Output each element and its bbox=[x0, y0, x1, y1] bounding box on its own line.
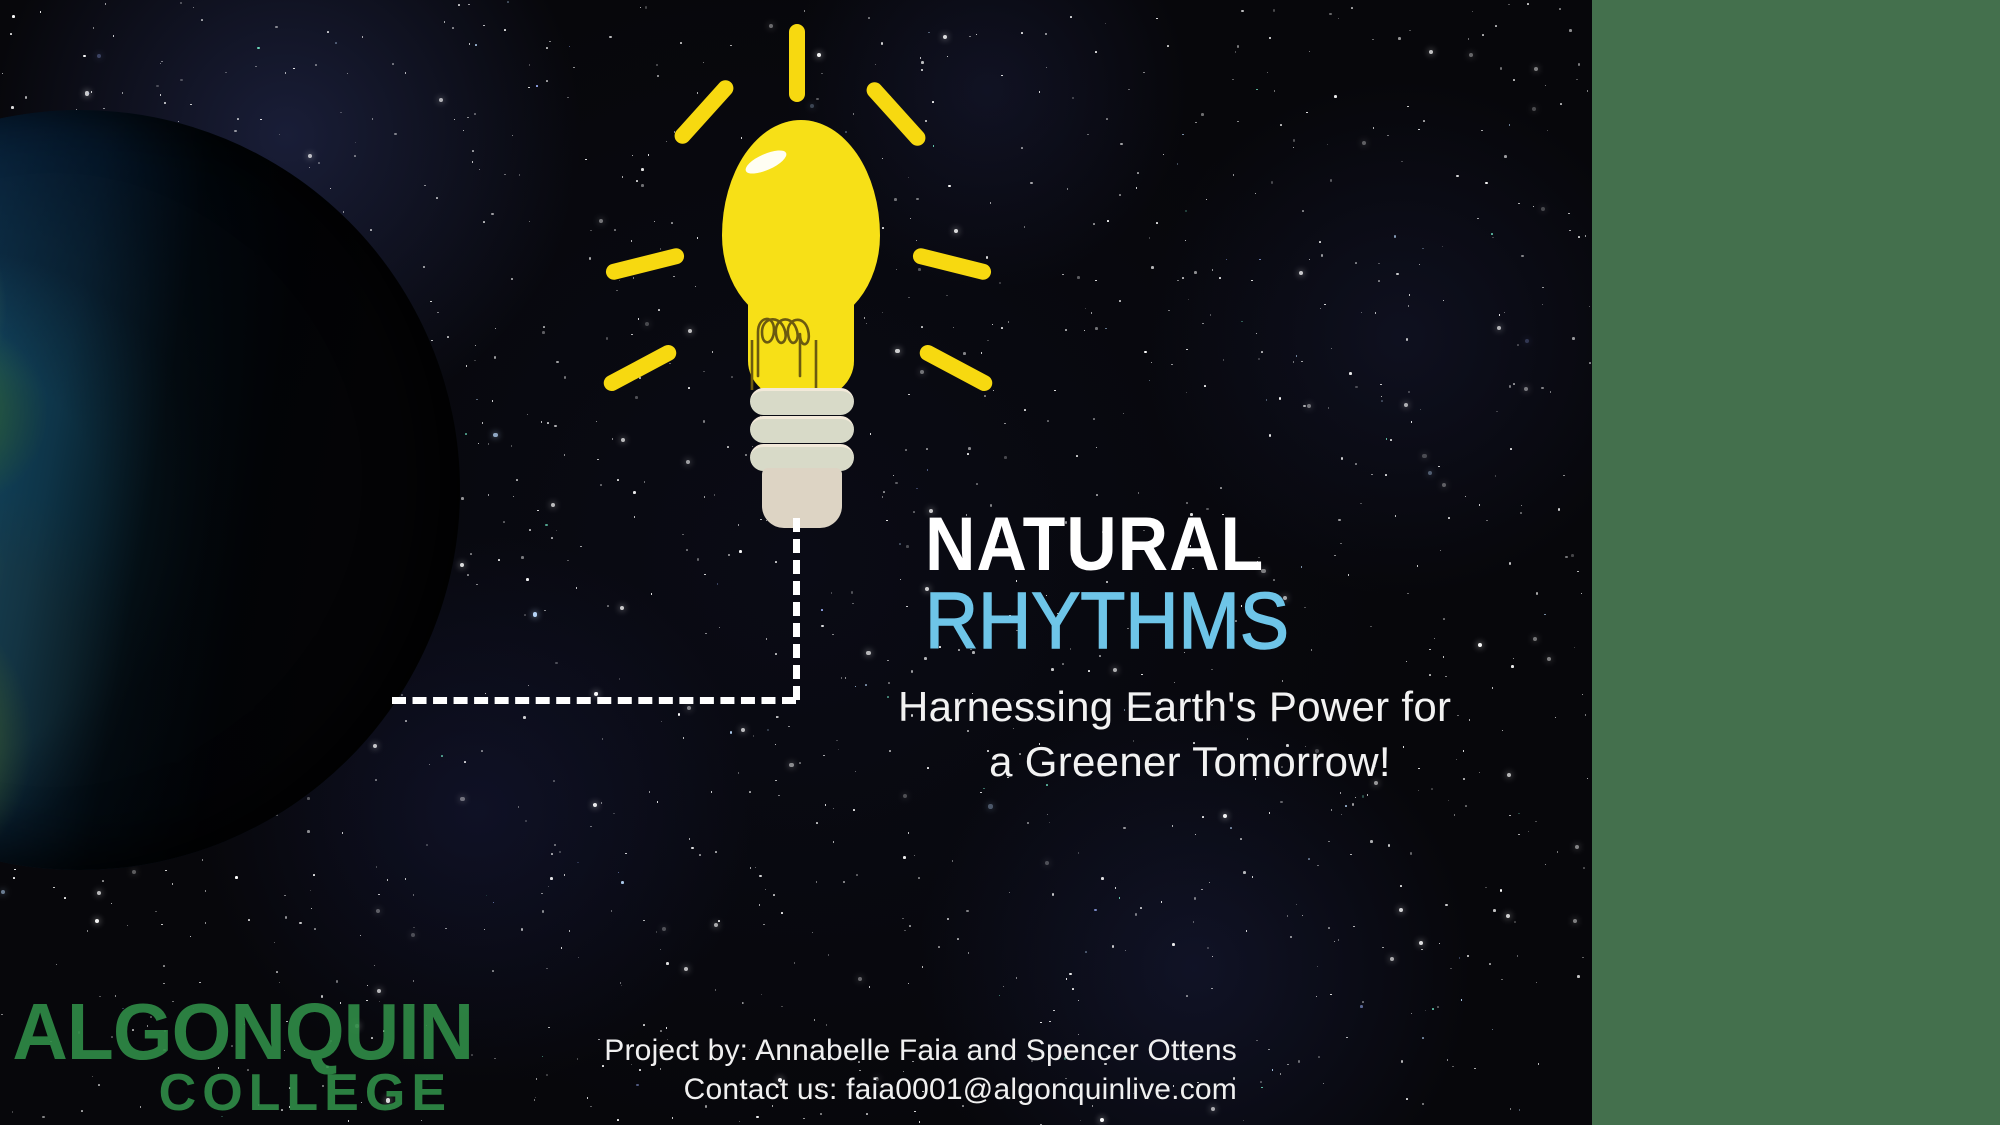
screenshot-canvas: NATURAL RHYTHMS Harnessing Earth's Power… bbox=[0, 0, 2000, 1125]
dashed-connector-line-vertical bbox=[793, 518, 800, 700]
bulb-ray-top bbox=[789, 24, 805, 102]
bulb-filament-icon bbox=[730, 280, 880, 390]
tagline-line-2: a Greener Tomorrow! bbox=[880, 735, 1500, 790]
credit-contact: Contact us: faia0001@algonquinlive.com bbox=[604, 1071, 1237, 1109]
slide-tagline: Harnessing Earth's Power for a Greener T… bbox=[880, 680, 1500, 789]
credit-project-by: Project by: Annabelle Faia and Spencer O… bbox=[604, 1032, 1237, 1070]
logo-wordmark: ALGONQUIN bbox=[12, 998, 454, 1067]
bulb-screw-thread bbox=[750, 444, 854, 471]
credits-block: Project by: Annabelle Faia and Spencer O… bbox=[604, 1032, 1237, 1109]
light-bulb-icon bbox=[672, 120, 922, 540]
presentation-slide: NATURAL RHYTHMS Harnessing Earth's Power… bbox=[0, 0, 1592, 1125]
bulb-screw-thread bbox=[750, 388, 854, 415]
title-line-rhythms: RHYTHMS bbox=[925, 582, 1514, 660]
title-line-natural: NATURAL bbox=[925, 508, 1514, 582]
bulb-screw-thread bbox=[750, 416, 854, 443]
tagline-line-1: Harnessing Earth's Power for bbox=[880, 680, 1500, 735]
algonquin-college-logo: ALGONQUIN COLLEGE bbox=[0, 998, 454, 1119]
earth-globe-icon bbox=[0, 110, 460, 870]
earth-limb-shading bbox=[0, 110, 460, 870]
slide-title: NATURAL RHYTHMS bbox=[925, 508, 1565, 661]
bulb-base-contact bbox=[762, 468, 842, 528]
dashed-connector-line-horizontal bbox=[392, 697, 796, 704]
